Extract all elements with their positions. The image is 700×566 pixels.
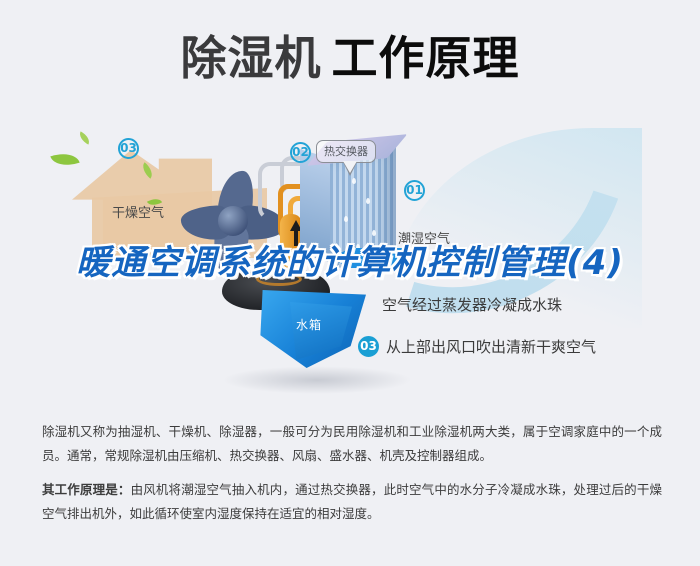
label-dry-air: 干燥空气 bbox=[112, 202, 164, 221]
overlay-headline: 暖通空调系统的计算机控制管理(4) bbox=[0, 244, 700, 282]
body-paragraph-2: 其工作原理是：由风机将潮湿空气抽入机内，通过热交换器，此时空气中的水分子冷凝成水… bbox=[42, 478, 662, 527]
condensation-droplet bbox=[366, 198, 370, 204]
infographic-page: 除湿机工作原理 bbox=[0, 0, 700, 566]
body-paragraph-2-lead: 其工作原理是： bbox=[42, 482, 131, 497]
condensation-droplet bbox=[372, 230, 376, 236]
leaf-icon bbox=[77, 131, 92, 144]
tank-shadow bbox=[222, 366, 412, 394]
leaf-icon bbox=[50, 148, 79, 170]
badge-01-humid-air: 01 bbox=[404, 180, 425, 201]
step-line-condensation: 空气经过蒸发器冷凝成水珠 bbox=[382, 294, 562, 315]
fan-hub bbox=[218, 206, 248, 236]
badge-03-dry-air: 03 bbox=[118, 138, 139, 159]
body-paragraph-2-rest: 由风机将潮湿空气抽入机内，通过热交换器，此时空气中的水分子冷凝成水珠，处理过后的… bbox=[42, 482, 662, 521]
badge-03-outlet: 03 bbox=[358, 336, 379, 357]
article-body: 除湿机又称为抽湿机、干燥机、除湿器，一般可分为民用除湿机和工业除湿机两大类，属于… bbox=[42, 420, 662, 536]
page-title-part2: 工作原理 bbox=[332, 31, 520, 85]
step-line-outlet: 从上部出风口吹出清新干爽空气 bbox=[386, 336, 596, 357]
badge-02-heat-exchanger: 02 bbox=[290, 142, 311, 163]
body-paragraph-1: 除湿机又称为抽湿机、干燥机、除湿器，一般可分为民用除湿机和工业除湿机两大类，属于… bbox=[42, 420, 662, 469]
condensation-droplet bbox=[344, 216, 348, 222]
condensation-droplet bbox=[352, 178, 356, 184]
water-tank-label: 水箱 bbox=[296, 316, 322, 333]
page-title-part1: 除湿机 bbox=[181, 31, 322, 85]
page-title: 除湿机工作原理 bbox=[0, 22, 700, 88]
callout-heat-exchanger: 热交换器 bbox=[316, 140, 376, 163]
